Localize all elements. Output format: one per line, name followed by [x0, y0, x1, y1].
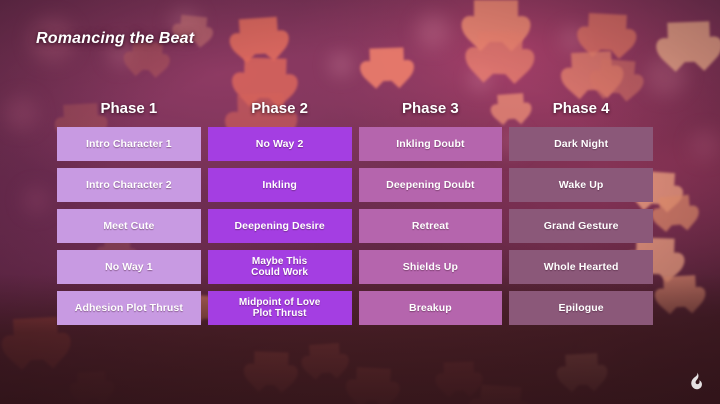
beat-cell-text-block: Deepening Doubt — [386, 179, 474, 191]
beat-cell[interactable]: No Way 1 — [57, 250, 201, 284]
beat-cell-text-block: Intro Character 2 — [86, 179, 172, 191]
beat-cell[interactable]: Inkling Doubt — [359, 127, 503, 161]
beat-cell-text-block: No Way 2 — [256, 138, 304, 150]
beat-cell[interactable]: Retreat — [359, 209, 503, 243]
beat-cell-text-block: Inkling — [262, 179, 297, 191]
beat-cell-line: Maybe This — [251, 256, 308, 268]
beat-cell-text-block: Meet Cute — [103, 220, 154, 232]
beat-cell-line: Midpoint of Love — [239, 297, 321, 309]
beat-cell-line: Whole Hearted — [544, 261, 619, 273]
beat-cell-line: Shields Up — [403, 261, 458, 273]
beat-cell[interactable]: Breakup — [359, 291, 503, 325]
page-title: Romancing the Beat — [36, 30, 194, 48]
beat-cell[interactable]: Maybe ThisCould Work — [208, 250, 352, 284]
beat-cell-line: Retreat — [412, 220, 449, 232]
beat-cell[interactable]: Adhesion Plot Thrust — [57, 291, 201, 325]
beat-cell-text-block: Epilogue — [559, 302, 604, 314]
beat-cell[interactable]: Midpoint of LovePlot Thrust — [208, 291, 352, 325]
slide-canvas: Romancing the Beat Phase 1Intro Characte… — [0, 0, 720, 404]
beat-cell-line: Breakup — [409, 302, 452, 314]
beat-cell-text-block: No Way 1 — [105, 261, 153, 273]
phase-beat-list: Inkling DoubtDeepening DoubtRetreatShiel… — [359, 127, 503, 325]
beat-cell[interactable]: Intro Character 2 — [57, 168, 201, 202]
beat-cell-line: No Way 1 — [105, 261, 153, 273]
beat-cell[interactable]: Wake Up — [509, 168, 653, 202]
beat-cell-text-block: Retreat — [412, 220, 449, 232]
flame-logo-icon — [688, 372, 704, 390]
beat-cell[interactable]: Epilogue — [509, 291, 653, 325]
beat-cell-line: Deepening Doubt — [386, 179, 474, 191]
beat-cell-line: Intro Character 1 — [86, 138, 172, 150]
beat-cell-text-block: Midpoint of LovePlot Thrust — [239, 297, 321, 320]
beat-cell[interactable]: No Way 2 — [208, 127, 352, 161]
beat-cell-text-block: Inkling Doubt — [396, 138, 464, 150]
beat-cell-line: Dark Night — [554, 138, 608, 150]
beat-cell-text-block: Intro Character 1 — [86, 138, 172, 150]
phase-column-header: Phase 4 — [509, 96, 653, 122]
beat-cell[interactable]: Dark Night — [509, 127, 653, 161]
beat-cell-text-block: Dark Night — [554, 138, 608, 150]
phase-column-header: Phase 1 — [57, 96, 201, 122]
phase-column-header: Phase 2 — [208, 96, 352, 122]
beat-cell-line: Deepening Desire — [234, 220, 324, 232]
phase-beat-list: Intro Character 1Intro Character 2Meet C… — [57, 127, 201, 325]
beat-cell-text-block: Shields Up — [403, 261, 458, 273]
beat-cell[interactable]: Deepening Doubt — [359, 168, 503, 202]
beat-cell-line: Wake Up — [559, 179, 604, 191]
beat-cell-line: Plot Thrust — [239, 308, 321, 320]
phase-beat-list: Dark NightWake UpGrand GestureWhole Hear… — [509, 127, 653, 325]
beat-cell[interactable]: Deepening Desire — [208, 209, 352, 243]
phase-column-header: Phase 3 — [359, 96, 503, 122]
beat-cell[interactable]: Intro Character 1 — [57, 127, 201, 161]
beat-cell-line: Inkling Doubt — [396, 138, 464, 150]
beat-cell-line: Adhesion Plot Thrust — [75, 302, 183, 314]
beat-cell-text-block: Breakup — [409, 302, 452, 314]
beat-cell-text-block: Maybe ThisCould Work — [251, 256, 308, 279]
phase-column-4: Phase 4Dark NightWake UpGrand GestureWho… — [509, 96, 653, 325]
beat-cell-text-block: Deepening Desire — [234, 220, 324, 232]
beat-cell-text-block: Whole Hearted — [544, 261, 619, 273]
beat-cell-line: Inkling — [262, 179, 297, 191]
beat-cell[interactable]: Shields Up — [359, 250, 503, 284]
beat-cell-text-block: Wake Up — [559, 179, 604, 191]
beat-cell-text-block: Grand Gesture — [544, 220, 619, 232]
phase-column-1: Phase 1Intro Character 1Intro Character … — [57, 96, 201, 325]
beat-cell-line: No Way 2 — [256, 138, 304, 150]
phase-beatsheet-table: Phase 1Intro Character 1Intro Character … — [57, 96, 653, 325]
beat-cell[interactable]: Whole Hearted — [509, 250, 653, 284]
beat-cell-line: Could Work — [251, 267, 308, 279]
beat-cell-line: Intro Character 2 — [86, 179, 172, 191]
beat-cell-text-block: Adhesion Plot Thrust — [75, 302, 183, 314]
beat-cell-line: Grand Gesture — [544, 220, 619, 232]
beat-cell-line: Meet Cute — [103, 220, 154, 232]
beat-cell[interactable]: Inkling — [208, 168, 352, 202]
beat-cell[interactable]: Meet Cute — [57, 209, 201, 243]
beat-cell[interactable]: Grand Gesture — [509, 209, 653, 243]
beat-cell-line: Epilogue — [559, 302, 604, 314]
phase-beat-list: No Way 2InklingDeepening DesireMaybe Thi… — [208, 127, 352, 325]
phase-column-3: Phase 3Inkling DoubtDeepening DoubtRetre… — [359, 96, 503, 325]
phase-column-2: Phase 2No Way 2InklingDeepening DesireMa… — [208, 96, 352, 325]
